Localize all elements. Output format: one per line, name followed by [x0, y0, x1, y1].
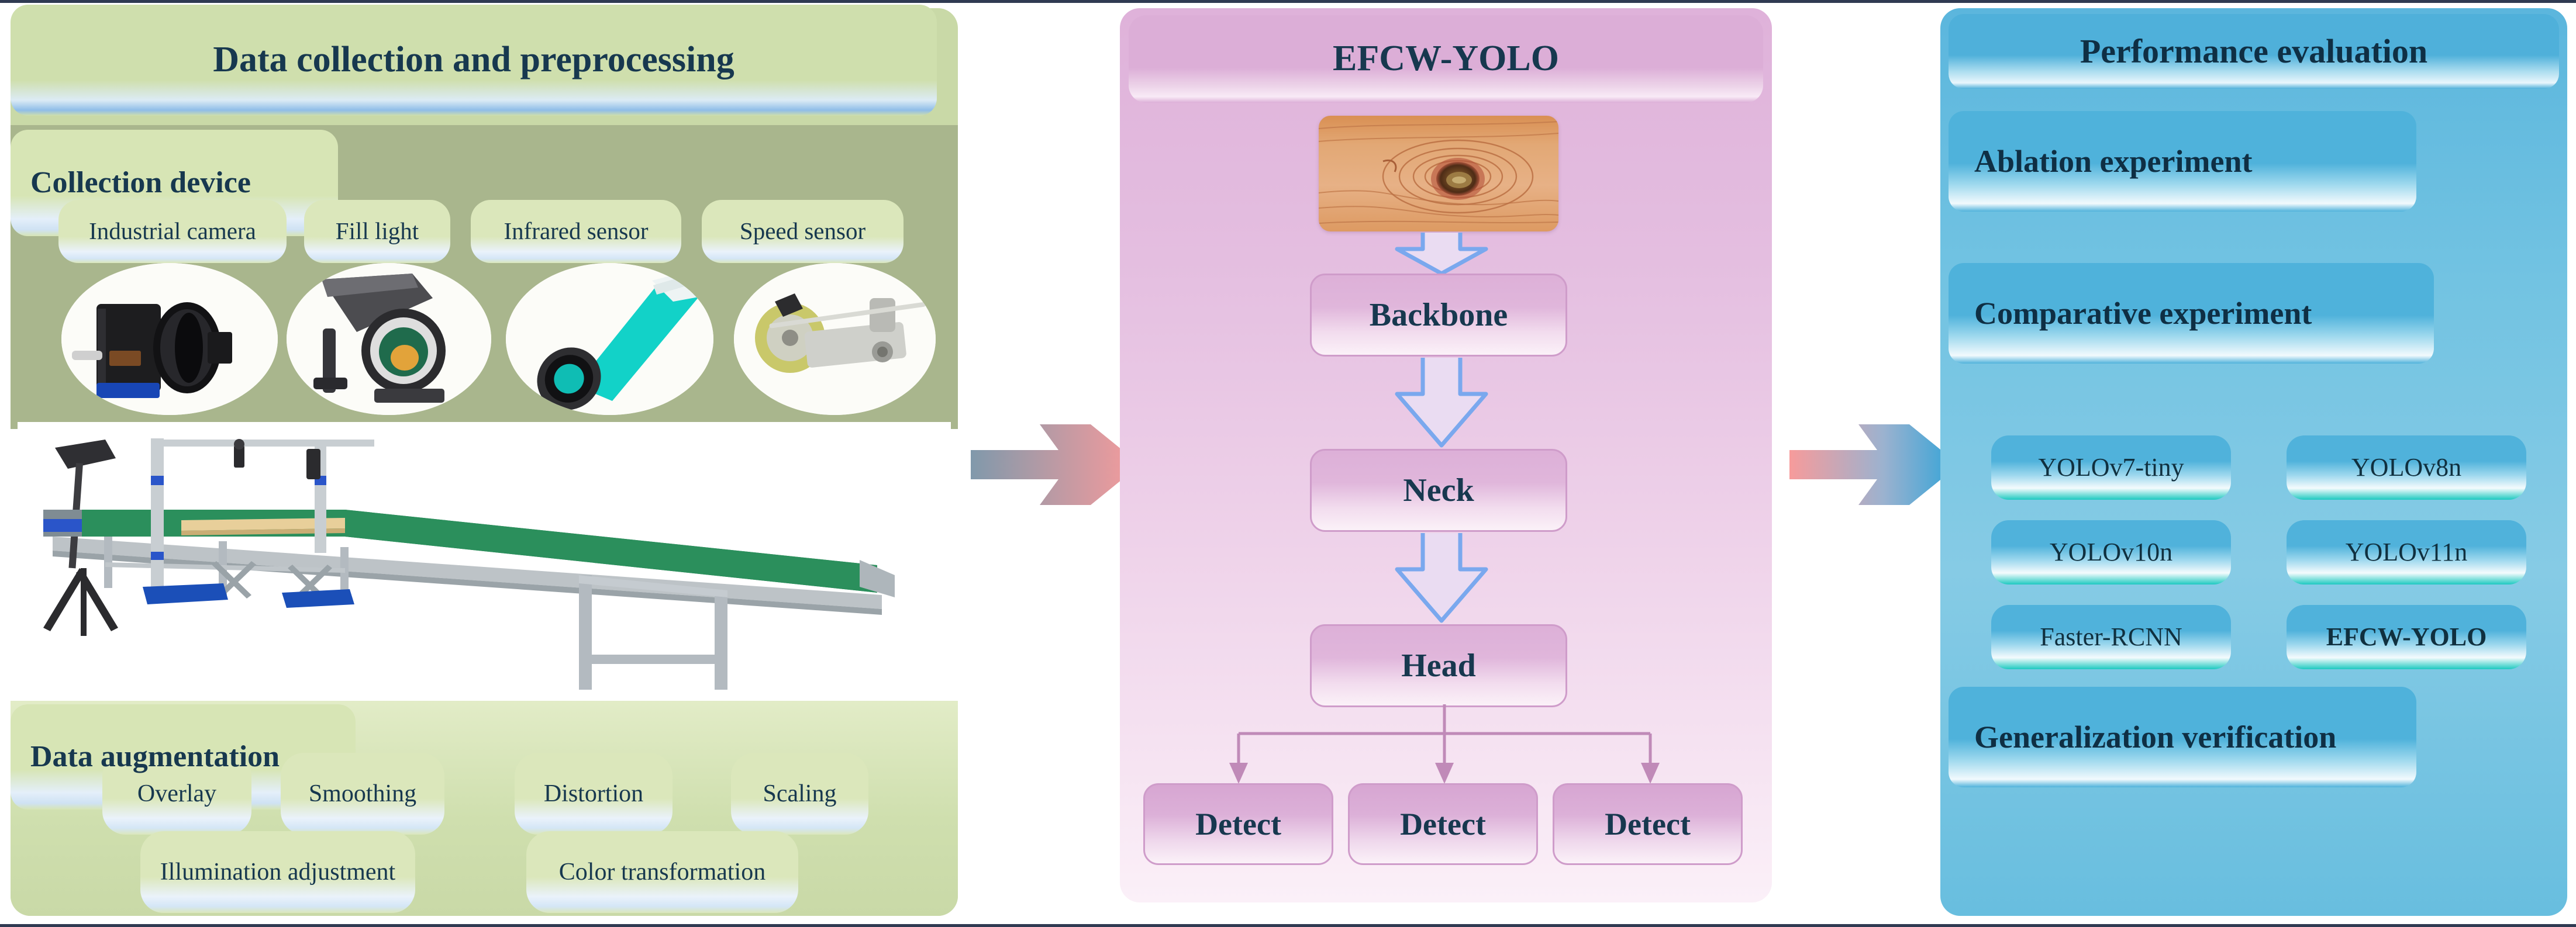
conveyor-illustration [18, 422, 951, 692]
industrial-camera-photo [61, 263, 278, 415]
augmentation-chip-color-transformation[interactable]: Color transformation [526, 831, 798, 913]
wood-knot-illustration [1319, 116, 1558, 231]
augmentation-label: Smoothing [301, 781, 425, 807]
industrial-camera-illustration [61, 263, 278, 415]
panel3-title: Performance evaluation [1949, 14, 2559, 89]
device-label: Industrial camera [81, 219, 264, 244]
speed-sensor-illustration [734, 263, 936, 415]
frame-top-rule [0, 0, 2576, 3]
augmentation-chip-smoothing[interactable]: Smoothing [281, 753, 444, 835]
data-to-model-arrow [971, 409, 1140, 520]
wood-board-knot-defect-photo [1319, 116, 1558, 231]
device-chip-industrial-camera[interactable]: Industrial camera [58, 200, 287, 263]
augmentation-label: Illumination adjustment [152, 859, 404, 885]
model-to-evaluation-arrow [1789, 409, 1959, 520]
model-label: YOLOv11n [2337, 539, 2476, 566]
model-label: EFCW-YOLO [2318, 624, 2495, 651]
conveyor-belt-inspection-rig-photo [18, 422, 951, 692]
augmentation-label: Scaling [755, 781, 845, 807]
stage-label: Neck [1395, 473, 1482, 508]
fill-light-illustration [287, 263, 491, 415]
frame-bottom-rule [0, 924, 2576, 927]
detect-head-1[interactable]: Detect [1143, 783, 1333, 865]
device-chip-infrared-sensor[interactable]: Infrared sensor [471, 200, 681, 263]
stage-neck[interactable]: Neck [1310, 449, 1567, 532]
flow-arrow-neck-to-head [1389, 533, 1494, 624]
section-generalization-verification[interactable]: Generalization verification [1949, 687, 2416, 787]
panel3-title-label: Performance evaluation [2072, 34, 2436, 70]
detect-head-2[interactable]: Detect [1348, 783, 1538, 865]
model-label: YOLOv7-tiny [2030, 454, 2192, 481]
model-label: YOLOv10n [2042, 539, 2181, 566]
model-chip-yolov10n[interactable]: YOLOv10n [1991, 520, 2231, 584]
section-label: Ablation experiment [1949, 145, 2260, 178]
panel2-title: EFCW-YOLO [1129, 15, 1763, 103]
stage-label: Backbone [1361, 298, 1516, 333]
device-label: Fill light [327, 219, 427, 244]
device-label: Infrared sensor [495, 219, 656, 244]
head-to-detect-fanout-connectors [1140, 704, 1749, 786]
detect-head-3[interactable]: Detect [1553, 783, 1743, 865]
stage-head[interactable]: Head [1310, 624, 1567, 707]
section-label: Comparative experiment [1949, 297, 2320, 330]
detect-label: Detect [1596, 808, 1699, 841]
device-chip-fill-light[interactable]: Fill light [304, 200, 450, 263]
speed-sensor-photo [734, 263, 936, 415]
section-ablation-experiment[interactable]: Ablation experiment [1949, 111, 2416, 212]
model-chip-faster-rcnn[interactable]: Faster-RCNN [1991, 605, 2231, 669]
fill-light-photo [287, 263, 491, 415]
panel1-title-label: Data collection and preprocessing [205, 41, 743, 79]
device-chip-speed-sensor[interactable]: Speed sensor [702, 200, 904, 263]
augmentation-label: Overlay [129, 781, 225, 807]
collection-device-label: Collection device [11, 167, 259, 199]
infrared-sensor-photo [506, 263, 713, 415]
model-label: YOLOv8n [2343, 454, 2470, 481]
augmentation-label: Distortion [536, 781, 651, 807]
stage-backbone[interactable]: Backbone [1310, 274, 1567, 357]
augmentation-chip-illumination-adjustment[interactable]: Illumination adjustment [140, 831, 415, 913]
model-chip-yolov11n[interactable]: YOLOv11n [2287, 520, 2526, 584]
detect-label: Detect [1187, 808, 1289, 841]
model-label: Faster-RCNN [2032, 624, 2191, 651]
detect-label: Detect [1392, 808, 1494, 841]
stage-label: Head [1393, 649, 1484, 683]
flow-arrow-backbone-to-neck [1389, 358, 1494, 449]
model-chip-yolov7-tiny[interactable]: YOLOv7-tiny [1991, 435, 2231, 500]
model-chip-yolov8n[interactable]: YOLOv8n [2287, 435, 2526, 500]
infrared-sensor-illustration [506, 263, 713, 415]
model-chip-efcw-yolo[interactable]: EFCW-YOLO [2287, 605, 2526, 669]
augmentation-chip-distortion[interactable]: Distortion [515, 753, 673, 835]
panel2-title-label: EFCW-YOLO [1325, 40, 1567, 78]
panel1-title: Data collection and preprocessing [11, 5, 937, 116]
section-label: Generalization verification [1949, 721, 2344, 754]
data-augmentation-label: Data augmentation [11, 741, 288, 773]
augmentation-label: Color transformation [551, 859, 774, 885]
section-comparative-experiment[interactable]: Comparative experiment [1949, 263, 2434, 364]
device-label: Speed sensor [732, 219, 874, 244]
augmentation-chip-scaling[interactable]: Scaling [731, 753, 868, 835]
flow-arrow-image-to-backbone [1389, 233, 1494, 275]
